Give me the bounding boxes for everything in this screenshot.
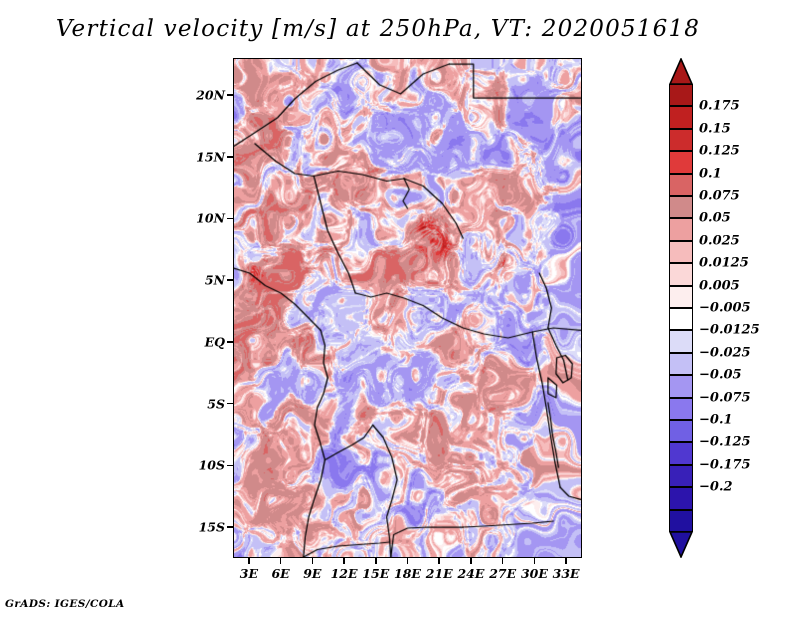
- y-tick: [227, 465, 233, 467]
- x-tick: [375, 558, 377, 564]
- colorbar-segment: [669, 106, 693, 128]
- footer-credit: GrADS: IGES/COLA: [5, 598, 125, 610]
- x-tick: [502, 558, 504, 564]
- x-tick: [343, 558, 345, 564]
- y-tick: [227, 156, 233, 158]
- x-tick: [534, 558, 536, 564]
- heatmap-canvas: [234, 59, 581, 557]
- colorbar-tick-label: 0.005: [699, 278, 740, 293]
- x-tick: [407, 558, 409, 564]
- colorbar-arrow-bottom: [669, 532, 693, 558]
- colorbar-segment: [669, 330, 693, 352]
- colorbar-tick-label: −0.125: [699, 435, 751, 450]
- colorbar-segment: [669, 286, 693, 308]
- x-tick-label: 3E: [240, 566, 258, 581]
- colorbar-segment: [669, 241, 693, 263]
- y-tick: [227, 94, 233, 96]
- colorbar-segment: [669, 151, 693, 173]
- x-tick-label: 33E: [553, 566, 580, 581]
- x-tick-label: 18E: [394, 566, 421, 581]
- colorbar-segment: [669, 465, 693, 487]
- y-tick-label: 20N: [196, 88, 225, 103]
- colorbar-segment: [669, 510, 693, 532]
- colorbar-segment: [669, 129, 693, 151]
- y-tick: [227, 279, 233, 281]
- colorbar-segment: [669, 375, 693, 397]
- colorbar-segment: [669, 353, 693, 375]
- colorbar-tick-label: −0.005: [699, 301, 751, 316]
- vertical-velocity-heatmap: [234, 59, 581, 557]
- x-tick-label: 9E: [303, 566, 321, 581]
- colorbar-tick-label: 0.1: [699, 166, 722, 181]
- x-tick-label: 30E: [521, 566, 548, 581]
- x-tick: [248, 558, 250, 564]
- colorbar-tick-label: −0.025: [699, 345, 751, 360]
- x-tick: [565, 558, 567, 564]
- y-tick: [227, 403, 233, 405]
- colorbar-tick-label: −0.05: [699, 368, 742, 383]
- colorbar-tick-label: 0.15: [699, 121, 731, 136]
- colorbar-tick-label: −0.175: [699, 457, 751, 472]
- colorbar-tick-label: 0.05: [699, 211, 731, 226]
- map-plot-area: [233, 58, 582, 558]
- x-tick-label: 27E: [489, 566, 516, 581]
- colorbar-tick-label: 0.125: [699, 144, 740, 159]
- y-tick-label: 10N: [196, 211, 225, 226]
- colorbar-segment: [669, 263, 693, 285]
- x-tick-label: 15E: [362, 566, 389, 581]
- y-tick-label: 15S: [199, 520, 225, 535]
- x-tick: [470, 558, 472, 564]
- colorbar-segment: [669, 420, 693, 442]
- x-tick: [280, 558, 282, 564]
- y-tick-label: EQ: [205, 334, 225, 349]
- colorbar-tick-label: −0.2: [699, 480, 733, 495]
- x-tick: [438, 558, 440, 564]
- colorbar-segment: [669, 398, 693, 420]
- colorbar-segment: [669, 218, 693, 240]
- colorbar-arrow-top: [669, 58, 693, 84]
- x-tick-label: 24E: [457, 566, 484, 581]
- colorbar-segment: [669, 308, 693, 330]
- colorbar: 0.1750.150.1250.10.0750.050.0250.01250.0…: [669, 58, 789, 563]
- y-tick-label: 10S: [199, 458, 225, 473]
- y-tick: [227, 341, 233, 343]
- x-tick-label: 6E: [271, 566, 289, 581]
- colorbar-segment: [669, 84, 693, 106]
- colorbar-tick-label: −0.075: [699, 390, 751, 405]
- x-tick-label: 12E: [331, 566, 358, 581]
- colorbar-segment: [669, 196, 693, 218]
- x-tick-label: 21E: [426, 566, 453, 581]
- y-tick-label: 5N: [205, 273, 225, 288]
- colorbar-tick-label: 0.0125: [699, 256, 749, 271]
- colorbar-tick-label: −0.0125: [699, 323, 760, 338]
- y-tick-label: 5S: [207, 396, 225, 411]
- x-tick: [312, 558, 314, 564]
- colorbar-tick-label: −0.1: [699, 413, 733, 428]
- y-tick-label: 15N: [196, 149, 225, 164]
- y-tick: [227, 218, 233, 220]
- y-tick: [227, 526, 233, 528]
- colorbar-tick-label: 0.025: [699, 233, 740, 248]
- colorbar-tick-label: 0.075: [699, 189, 740, 204]
- colorbar-segment: [669, 174, 693, 196]
- colorbar-segment: [669, 442, 693, 464]
- colorbar-segment: [669, 487, 693, 509]
- page-title: Vertical velocity [m/s] at 250hPa, VT: 2…: [0, 16, 756, 42]
- colorbar-tick-label: 0.175: [699, 99, 740, 114]
